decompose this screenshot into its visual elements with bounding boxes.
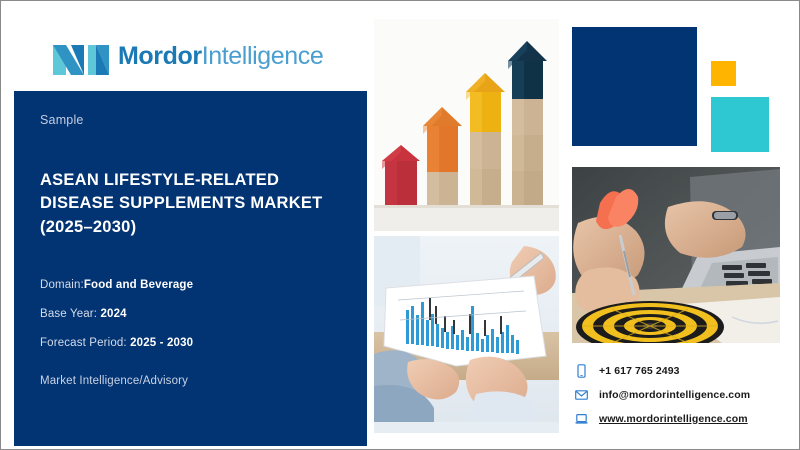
brand-logo[interactable]: MordorIntelligence bbox=[53, 37, 323, 75]
contact-phone-number[interactable]: +1 617 765 2493 bbox=[599, 365, 680, 377]
wooden-block-houses-image bbox=[374, 19, 559, 231]
report-category: Market Intelligence/Advisory bbox=[40, 375, 341, 387]
report-cover-page: MordorIntelligence Sample ASEAN LIFESTYL… bbox=[0, 0, 800, 450]
contact-website-url[interactable]: www.mordorintelligence.com bbox=[599, 413, 748, 425]
mordor-m-logo-icon bbox=[53, 37, 109, 75]
bar-chart-report-image bbox=[374, 236, 559, 433]
sample-badge: Sample bbox=[40, 113, 341, 127]
metadata-value-domain: Food and Beverage bbox=[84, 279, 193, 291]
wooden-block-houses-growth-chart bbox=[374, 19, 559, 231]
contact-email-address[interactable]: info@mordorintelligence.com bbox=[599, 389, 750, 401]
contact-row-email: info@mordorintelligence.com bbox=[575, 387, 785, 402]
metadata-value-forecast-period: 2025 - 2030 bbox=[130, 337, 193, 349]
metadata-label-forecast-period: Forecast Period: bbox=[40, 337, 127, 349]
brand-name-light: Intelligence bbox=[202, 42, 324, 70]
email-icon bbox=[575, 388, 588, 402]
brand-name-bold: Mordor bbox=[118, 42, 202, 70]
dart-and-dartboard-with-laptop bbox=[572, 167, 780, 343]
navy-square bbox=[572, 27, 697, 146]
brand-wordmark: MordorIntelligence bbox=[118, 44, 323, 69]
contact-info-block: +1 617 765 2493 info@mordorintelligence.… bbox=[575, 363, 785, 435]
metadata-row-forecast-period: Forecast Period: 2025 - 2030 bbox=[40, 337, 341, 349]
cover-info-panel: Sample ASEAN LIFESTYLE-RELATED DISEASE S… bbox=[14, 91, 367, 446]
contact-row-website: www.mordorintelligence.com bbox=[575, 411, 785, 426]
laptop-icon bbox=[575, 412, 588, 426]
cyan-square bbox=[711, 97, 769, 152]
metadata-row-base-year: Base Year: 2024 bbox=[40, 308, 341, 320]
hands-holding-bar-chart-report bbox=[374, 236, 559, 433]
metadata-label-domain: Domain: bbox=[40, 279, 84, 291]
metadata-label-base-year: Base Year: bbox=[40, 308, 97, 320]
orange-square bbox=[711, 61, 736, 86]
page-title: ASEAN LIFESTYLE-RELATED DISEASE SUPPLEME… bbox=[40, 169, 341, 239]
phone-icon bbox=[575, 364, 588, 378]
dartboard-image bbox=[572, 167, 780, 343]
metadata-row-domain: Domain:Food and Beverage bbox=[40, 279, 341, 291]
contact-row-phone: +1 617 765 2493 bbox=[575, 363, 785, 378]
report-metadata-list: Domain:Food and Beverage Base Year: 2024… bbox=[40, 279, 341, 349]
metadata-value-base-year: 2024 bbox=[101, 308, 127, 320]
